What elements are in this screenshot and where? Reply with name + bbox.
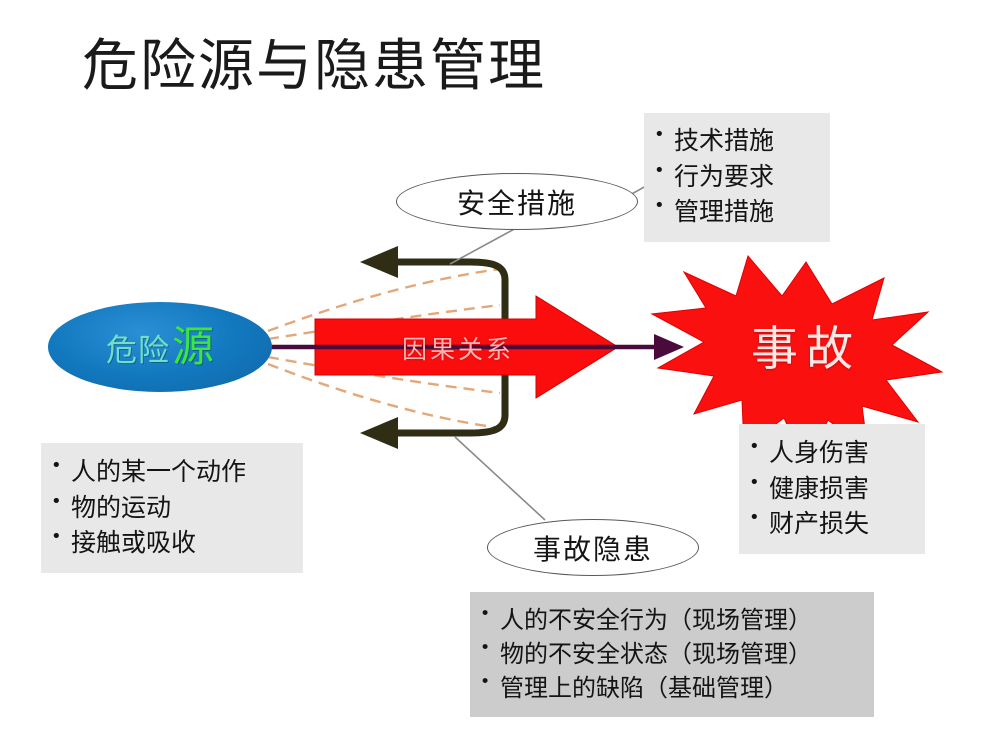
causal-line-arrowhead bbox=[654, 334, 684, 360]
list-item: 接触或吸收 bbox=[45, 525, 297, 561]
slide-canvas: 危险源与隐患管理 危险 源 因果关系 事故 安全措施 事故隐患 技术措施 行为要… bbox=[0, 0, 1000, 748]
box-hidden-danger-detail-list: 人的不安全行为（现场管理） 物的不安全状态（现场管理） 管理上的缺陷（基础管理） bbox=[474, 603, 868, 705]
causal-arrow-label: 因果关系 bbox=[378, 330, 538, 366]
node-hazard-source-label-part1: 危险 bbox=[106, 325, 170, 370]
control-bracket-lower-arm bbox=[392, 415, 505, 433]
list-item: 人身伤害 bbox=[743, 435, 919, 471]
list-item: 人的不安全行为（现场管理） bbox=[474, 603, 868, 637]
box-hazard-source-detail: 人的某一个动作 物的运动 接触或吸收 bbox=[41, 443, 303, 573]
control-bracket-upper-arrowhead bbox=[360, 246, 398, 278]
leader-line-hidden-danger bbox=[455, 437, 545, 520]
box-accident-results-list: 人身伤害 健康损害 财产损失 bbox=[743, 435, 919, 542]
node-safety-measures-label: 安全措施 bbox=[457, 182, 577, 222]
list-item: 技术措施 bbox=[648, 123, 824, 159]
list-item: 物的运动 bbox=[45, 490, 297, 526]
list-item: 财产损失 bbox=[743, 506, 919, 542]
dashed-ray-upper-outer bbox=[268, 269, 500, 331]
list-item: 物的不安全状态（现场管理） bbox=[474, 637, 868, 671]
list-item: 行为要求 bbox=[648, 159, 824, 195]
box-hidden-danger-detail: 人的不安全行为（现场管理） 物的不安全状态（现场管理） 管理上的缺陷（基础管理） bbox=[470, 592, 874, 717]
node-hidden-danger-label: 事故隐患 bbox=[533, 528, 653, 568]
leader-line-safety bbox=[450, 226, 520, 264]
box-safety-measures: 技术措施 行为要求 管理措施 bbox=[644, 113, 830, 242]
box-accident-results: 人身伤害 健康损害 财产损失 bbox=[739, 424, 925, 554]
control-bracket-lower-arrowhead bbox=[360, 417, 398, 449]
box-safety-measures-list: 技术措施 行为要求 管理措施 bbox=[648, 123, 824, 230]
page-title: 危险源与隐患管理 bbox=[82, 36, 546, 98]
list-item: 管理措施 bbox=[648, 194, 824, 230]
list-item: 管理上的缺陷（基础管理） bbox=[474, 671, 868, 705]
list-item: 人的某一个动作 bbox=[45, 454, 297, 490]
control-bracket-upper-arm bbox=[392, 262, 505, 280]
dashed-ray-lower-outer bbox=[268, 364, 500, 428]
node-hazard-source[interactable]: 危险 源 bbox=[48, 302, 272, 392]
list-item: 健康损害 bbox=[743, 471, 919, 507]
node-hidden-danger[interactable]: 事故隐患 bbox=[487, 519, 699, 576]
box-hazard-source-detail-list: 人的某一个动作 物的运动 接触或吸收 bbox=[45, 454, 297, 561]
node-safety-measures[interactable]: 安全措施 bbox=[396, 173, 638, 230]
node-hazard-source-label-part2: 源 bbox=[172, 326, 214, 368]
accident-burst-label: 事故 bbox=[731, 310, 881, 379]
